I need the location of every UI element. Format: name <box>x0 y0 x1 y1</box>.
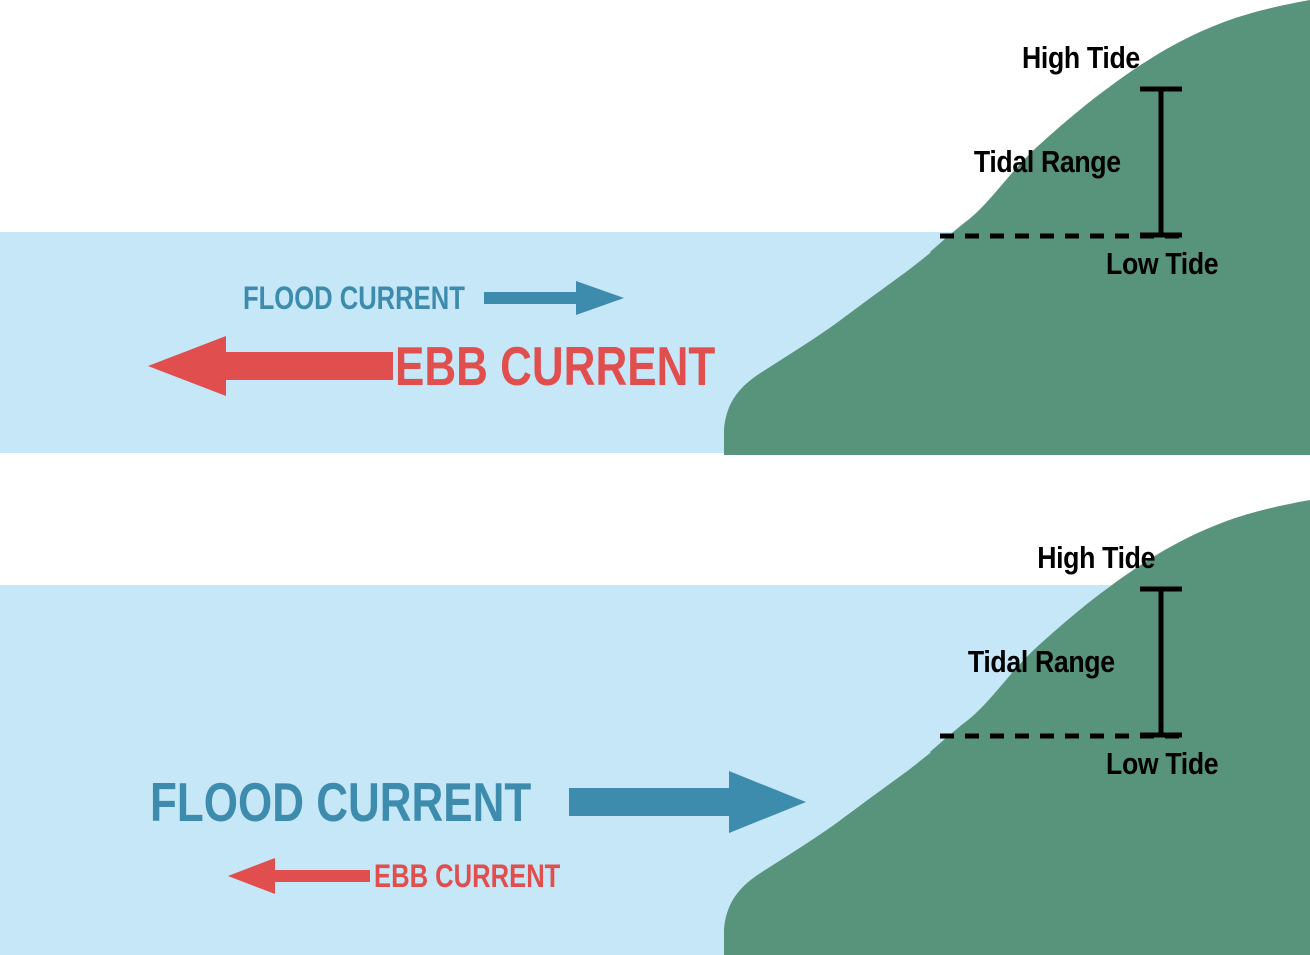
flood-current-row: FLOOD CURRENT <box>243 281 624 315</box>
label-tidal-range: Tidal Range <box>974 146 1121 177</box>
flood-current-label: FLOOD CURRENT <box>243 282 465 314</box>
flood-current-arrow-right <box>569 771 806 833</box>
flood-current-row: FLOOD CURRENT <box>150 771 806 833</box>
flood-current-arrow-right <box>484 281 624 315</box>
ebb-current-arrow-left <box>228 858 370 894</box>
ebb-current-row: EBB CURRENT <box>148 336 795 396</box>
ebb-current-row: EBB CURRENT <box>228 858 607 894</box>
flood-current-label: FLOOD CURRENT <box>150 775 531 830</box>
land-hill <box>724 0 1310 455</box>
label-low-tide: Low Tide <box>1106 248 1218 279</box>
label-tidal-range: Tidal Range <box>968 646 1115 677</box>
label-high-tide: High Tide <box>1037 542 1155 573</box>
ebb-current-label: EBB CURRENT <box>374 860 560 892</box>
label-low-tide: Low Tide <box>1106 748 1218 779</box>
panel-low-tide: High Tide Tidal Range Low Tide FLOOD CUR… <box>0 0 1310 455</box>
ebb-current-label: EBB CURRENT <box>395 339 715 394</box>
ebb-current-arrow-left <box>148 336 393 396</box>
tidal-current-diagram: High Tide Tidal Range Low Tide FLOOD CUR… <box>0 0 1310 955</box>
panel-high-tide: High Tide Tidal Range Low Tide FLOOD CUR… <box>0 500 1310 955</box>
